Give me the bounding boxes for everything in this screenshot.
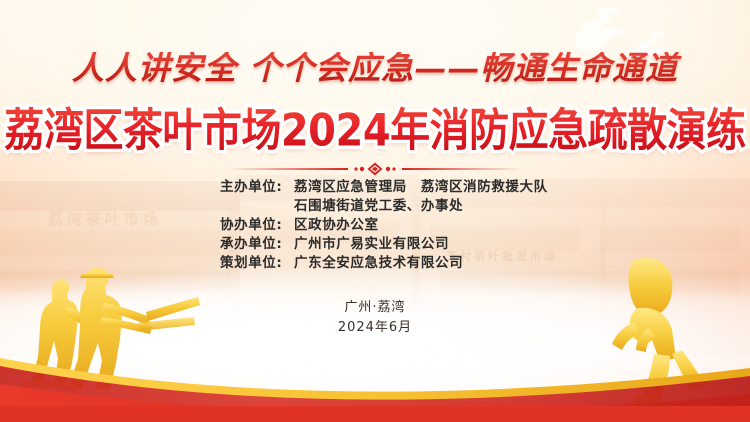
credit-label: 主办单位: (220, 178, 294, 197)
credit-row: 协办单位:区政协办公室 (0, 216, 750, 235)
poster-title: 荔湾区茶叶市场2024年消防应急疏散演练 (0, 104, 750, 158)
divider-line-left (228, 168, 348, 170)
credit-inner: 主办单位:荔湾区应急管理局荔湾区消防救援大队 (220, 178, 530, 197)
credit-value: 广州市广易实业有限公司 (294, 236, 449, 252)
poster-canvas: 荔湾茶叶市场 芳村茶叶批发市场 人人讲安全 个个会应急——畅通生命通道 人人讲安… (0, 0, 750, 422)
poster-title-container: 荔湾区茶叶市场2024年消防应急疏散演练 荔湾区茶叶市场2024年消防应急疏散演… (0, 104, 750, 154)
credit-inner: 协办单位:区政协办公室 (220, 216, 530, 235)
credit-row: 主办单位:荔湾区应急管理局荔湾区消防救援大队 (0, 178, 750, 197)
credit-label: 承办单位: (220, 235, 294, 254)
poster-headline: 人人讲安全 个个会应急——畅通生命通道 (0, 52, 750, 84)
credit-inner: 策划单位:广东全安应急技术有限公司 (220, 254, 530, 273)
credit-row-continuation: 石围塘街道党工委、办事处 (0, 197, 750, 216)
diamond-ornament-icon (352, 162, 398, 176)
bottom-red-swoosh (0, 332, 750, 422)
credit-row: 承办单位:广州市广易实业有限公司 (0, 235, 750, 254)
credit-inner: 石围塘街道党工委、办事处 (220, 197, 530, 216)
credit-value: 广东全安应急技术有限公司 (294, 255, 463, 271)
credit-value: 区政协办公室 (294, 217, 379, 233)
credit-value: 荔湾区应急管理局 (294, 179, 407, 195)
divider-line-right (402, 168, 522, 170)
credit-inner: 承办单位:广州市广易实业有限公司 (220, 235, 530, 254)
credit-label: 协办单位: (220, 216, 294, 235)
credit-value-secondary: 荔湾区消防救援大队 (421, 179, 548, 195)
credit-label: 策划单位: (220, 254, 294, 273)
credit-continuation: 石围塘街道党工委、办事处 (294, 198, 463, 214)
decorative-divider (0, 162, 750, 176)
